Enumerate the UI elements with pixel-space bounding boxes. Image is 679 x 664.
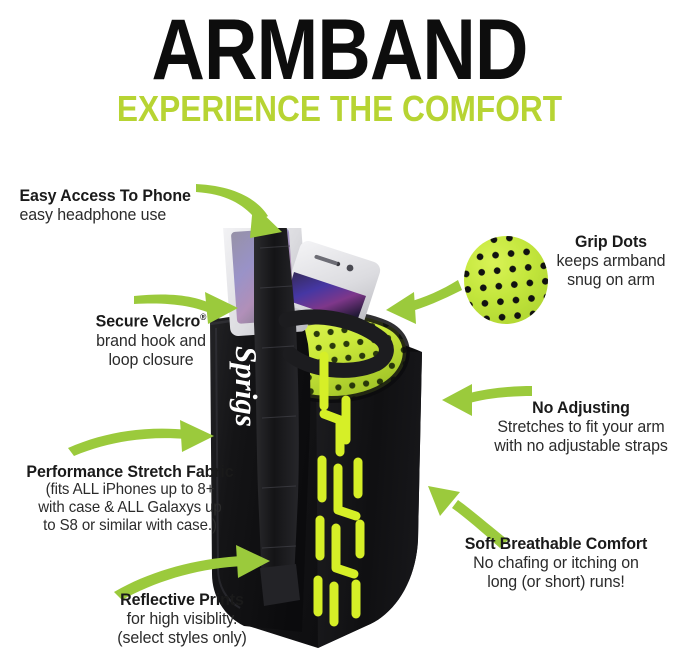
callout-performance-stretch-fabric: Performance Stretch Fabric (fits ALL iPh… (2, 462, 258, 535)
callout-subline: Stretches to fit your arm (492, 417, 671, 436)
registered-trademark-icon: ® (200, 312, 206, 322)
callout-heading: Soft Breathable Comfort (443, 534, 669, 553)
grip-dots-swatch-icon (464, 236, 548, 324)
callout-subline: loop closure (52, 350, 249, 369)
callout-subline: with no adjustable straps (492, 436, 671, 455)
callout-subline: with case & ALL Galaxys up (10, 499, 251, 517)
callout-subline: long (or short) runs! (443, 572, 669, 591)
callout-heading: No Adjusting (492, 398, 671, 417)
page-subtitle: EXPERIENCE THE COMFORT (41, 90, 639, 128)
callout-easy-access-to-phone: Easy Access To Phone easy headphone use (14, 186, 196, 224)
callout-heading-text: Secure Velcro (96, 312, 201, 331)
callout-subline: easy headphone use (19, 205, 190, 224)
callout-subline: snug on arm (552, 270, 670, 289)
header: ARMBAND EXPERIENCE THE COMFORT (0, 0, 679, 128)
infographic-page: ARMBAND EXPERIENCE THE COMFORT (0, 0, 679, 664)
callout-reflective-prints: Reflective Prints for high visiblity. (s… (74, 590, 290, 647)
callout-secure-velcro: Secure Velcro® brand hook and loop closu… (46, 308, 256, 369)
callout-subline: keeps armband (552, 251, 670, 270)
callout-subline: for high visiblity. (80, 609, 283, 628)
callout-subline: to S8 or similar with case.) (10, 517, 251, 535)
callout-subline: (select styles only) (80, 628, 283, 647)
callout-grip-dots: Grip Dots keeps armband snug on arm (548, 232, 674, 289)
callout-heading: Grip Dots (552, 232, 670, 251)
callout-no-adjusting: No Adjusting Stretches to fit your arm w… (486, 398, 676, 455)
grip-dots-pattern (464, 236, 548, 324)
callout-subline: brand hook and (52, 331, 249, 350)
callout-soft-breathable-comfort: Soft Breathable Comfort No chafing or it… (436, 534, 676, 591)
page-title: ARMBAND (48, 4, 632, 96)
callout-heading: Easy Access To Phone (19, 186, 190, 205)
callout-heading: Secure Velcro® (52, 308, 249, 331)
callout-subline: No chafing or itching on (443, 553, 669, 572)
callout-subline: (fits ALL iPhones up to 8+ (10, 481, 251, 499)
callout-heading: Reflective Prints (80, 590, 283, 609)
callout-heading: Performance Stretch Fabric (10, 462, 251, 481)
